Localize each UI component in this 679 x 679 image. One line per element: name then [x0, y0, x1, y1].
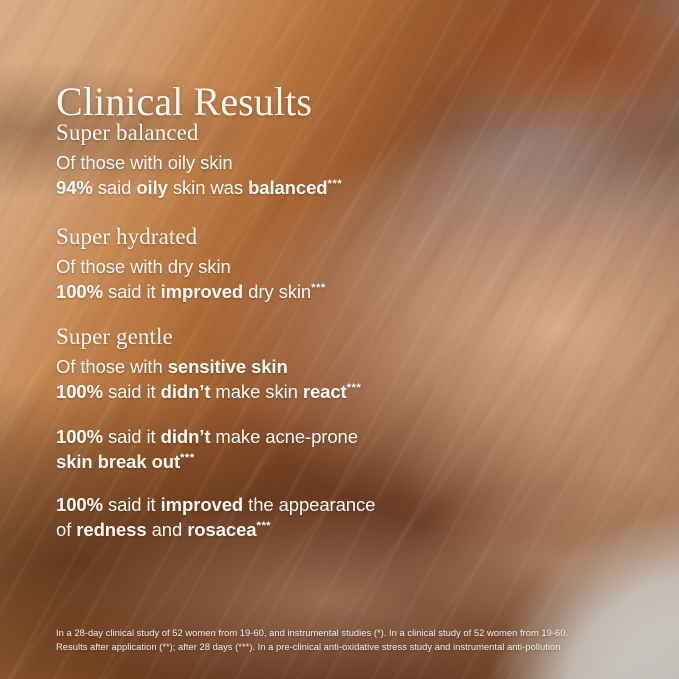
claim-text: Of those with	[56, 356, 168, 377]
emphasis-text: 100%	[56, 281, 103, 302]
emphasis-text: 94%	[56, 177, 93, 198]
claim-text: Of those with oily skin	[56, 152, 233, 173]
footnotes: In a 28-day clinical study of 52 women f…	[56, 626, 636, 655]
emphasis-text: rosacea	[187, 519, 256, 540]
claim-text: make skin	[210, 381, 302, 402]
claim-lines: 100% said it didn’t make acne-proneskin …	[56, 424, 358, 474]
footnote-line: In a 28-day clinical study of 52 women f…	[56, 626, 636, 640]
claim-text: said it	[103, 494, 161, 515]
footnote-marker: ***	[180, 452, 195, 464]
claim-text: Of those with dry skin	[56, 256, 231, 277]
emphasis-text: improved	[161, 494, 243, 515]
claim-lines: Of those with oily skin94% said oily ski…	[56, 150, 342, 200]
claim-block-super-balanced: Super balanced Of those with oily skin94…	[56, 118, 342, 200]
claim-line: Of those with sensitive skin	[56, 354, 361, 379]
claim-text: the appearance	[243, 494, 375, 515]
claim-text: skin was	[168, 177, 248, 198]
claim-text: of	[56, 519, 76, 540]
clinical-results-card: Clinical Results Super balanced Of those…	[0, 0, 679, 679]
claim-block-acne-prone: 100% said it didn’t make acne-proneskin …	[56, 424, 358, 474]
claim-text: said it	[103, 381, 161, 402]
claim-block-super-gentle: Super gentle Of those with sensitive ski…	[56, 322, 361, 404]
footnote-marker: ***	[347, 382, 362, 394]
claim-line: 94% said oily skin was balanced***	[56, 175, 342, 200]
claim-heading: Super hydrated	[56, 222, 326, 252]
emphasis-text: sensitive skin	[168, 356, 288, 377]
claim-text: make acne-prone	[210, 426, 358, 447]
emphasis-text: 100%	[56, 426, 103, 447]
claim-text: dry skin	[243, 281, 311, 302]
emphasis-text: redness	[76, 519, 146, 540]
claim-line: 100% said it didn’t make acne-prone	[56, 424, 358, 449]
claim-block-redness-rosacea: 100% said it improved the appearanceof r…	[56, 492, 375, 542]
claim-text: and	[147, 519, 188, 540]
claim-text: said it	[103, 426, 161, 447]
emphasis-text: react	[303, 381, 347, 402]
claim-lines: 100% said it improved the appearanceof r…	[56, 492, 375, 542]
emphasis-text: 100%	[56, 381, 103, 402]
emphasis-text: 100%	[56, 494, 103, 515]
claim-line: 100% said it improved the appearance	[56, 492, 375, 517]
emphasis-text: didn’t	[161, 381, 211, 402]
emphasis-text: didn’t	[161, 426, 211, 447]
claim-line: 100% said it improved dry skin***	[56, 279, 326, 304]
footnote-marker: ***	[311, 282, 326, 294]
claim-line: 100% said it didn’t make skin react***	[56, 379, 361, 404]
emphasis-text: improved	[161, 281, 243, 302]
claim-line: of redness and rosacea***	[56, 517, 375, 542]
footnote-marker: ***	[327, 178, 342, 190]
claim-text: said it	[103, 281, 161, 302]
footnote-marker: ***	[256, 520, 271, 532]
claim-heading: Super gentle	[56, 322, 361, 352]
claim-text: said	[93, 177, 137, 198]
claim-heading: Super balanced	[56, 118, 342, 148]
claim-line: Of those with dry skin	[56, 254, 326, 279]
emphasis-text: skin break out	[56, 451, 180, 472]
content-overlay: Clinical Results Super balanced Of those…	[0, 0, 679, 679]
emphasis-text: balanced	[248, 177, 327, 198]
emphasis-text: oily	[136, 177, 167, 198]
footnote-line: Results after application (**); after 28…	[56, 640, 636, 654]
claim-block-super-hydrated: Super hydrated Of those with dry skin100…	[56, 222, 326, 304]
claim-lines: Of those with sensitive skin100% said it…	[56, 354, 361, 404]
claim-line: skin break out***	[56, 449, 358, 474]
claim-line: Of those with oily skin	[56, 150, 342, 175]
claim-lines: Of those with dry skin100% said it impro…	[56, 254, 326, 304]
